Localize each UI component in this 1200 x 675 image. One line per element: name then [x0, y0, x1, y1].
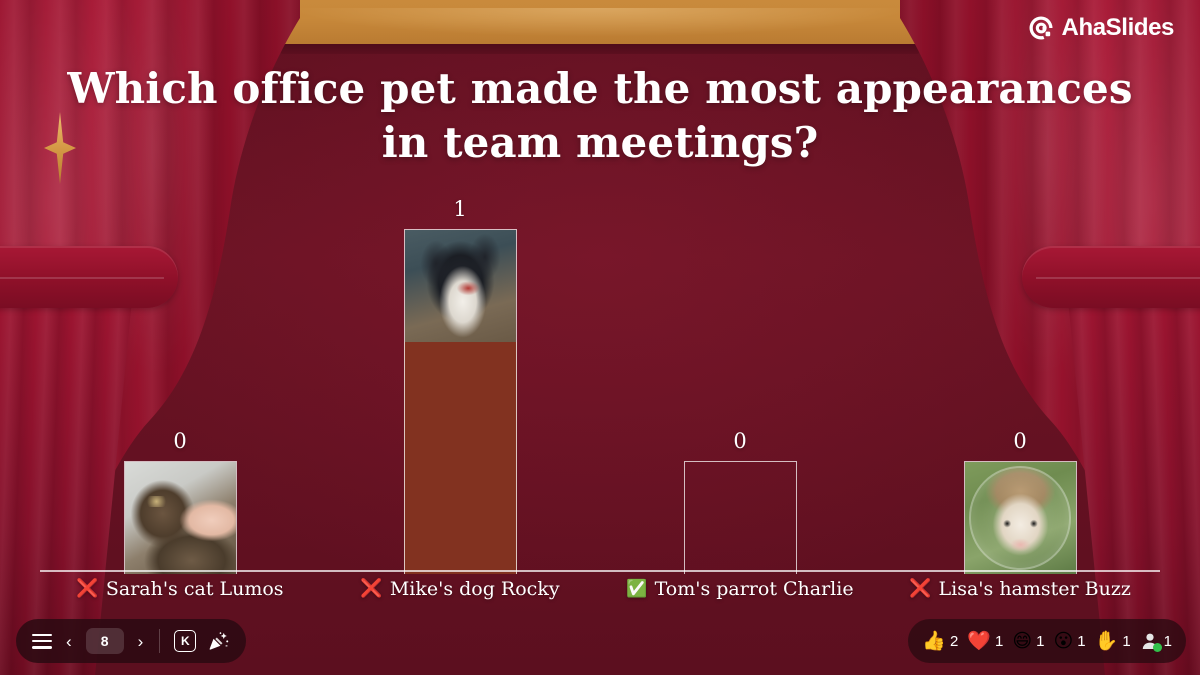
chart-column-hamster: 0 — [880, 196, 1160, 574]
answer-option-parrot[interactable]: ✅ Tom's parrot Charlie — [600, 578, 880, 600]
answer-option-cat[interactable]: ❌ Sarah's cat Lumos — [40, 578, 320, 600]
stage-valance — [258, 0, 942, 46]
confetti-button[interactable] — [208, 630, 230, 652]
cross-icon: ❌ — [909, 580, 931, 598]
hamburger-menu-icon — [32, 634, 52, 649]
chart-axis-line — [40, 570, 1160, 572]
thumbs-up-icon: 👍 — [922, 632, 946, 651]
chart-column-dog: 1 — [320, 196, 600, 574]
answer-option-dog[interactable]: ❌ Mike's dog Rocky — [320, 578, 600, 600]
cat-photo — [124, 461, 237, 574]
participants-indicator[interactable]: 1 — [1140, 631, 1172, 651]
cross-icon: ❌ — [360, 580, 382, 598]
reaction-surprised[interactable]: 😮 1 — [1053, 632, 1085, 651]
presentation-slide: AhaSlides Which office pet made the most… — [0, 0, 1200, 675]
online-status-dot — [1153, 643, 1162, 652]
bar-group: 0 — [124, 431, 237, 574]
ahaslides-logo: AhaSlides — [1028, 14, 1174, 42]
answer-option-label: Tom's parrot Charlie — [655, 578, 854, 600]
prev-slide-button[interactable]: ‹ — [64, 633, 74, 650]
bar-value-label: 0 — [173, 431, 186, 452]
menu-button[interactable] — [32, 634, 52, 649]
slide-toolbar: ‹ 8 › K — [16, 619, 246, 663]
bar-value-label: 1 — [453, 199, 466, 220]
reaction-count: 1 — [1077, 633, 1085, 650]
reaction-laugh[interactable]: 😄 1 — [1012, 632, 1044, 651]
participant-count: 1 — [1164, 633, 1172, 650]
bar-value-label: 0 — [733, 431, 746, 452]
reaction-raise-hand[interactable]: ✋ 1 — [1095, 632, 1131, 651]
person-online-icon — [1140, 631, 1160, 651]
party-popper-icon — [208, 630, 230, 652]
toolbar-divider — [159, 629, 160, 653]
raise-hand-icon: ✋ — [1095, 632, 1119, 651]
reaction-thumbs-up[interactable]: 👍 2 — [922, 632, 958, 651]
surprised-icon: 😮 — [1053, 632, 1073, 651]
bar-group: 0 — [964, 431, 1077, 574]
chart-column-cat: 0 — [40, 196, 320, 574]
bar-group: 0 — [684, 431, 797, 574]
reaction-count: 2 — [950, 633, 958, 650]
stage-valance-shadow — [262, 44, 938, 54]
heart-icon: ❤️ — [967, 632, 991, 651]
answer-option-label: Mike's dog Rocky — [390, 578, 560, 600]
answer-option-label: Lisa's hamster Buzz — [939, 578, 1131, 600]
answer-options-row: ❌ Sarah's cat Lumos ❌ Mike's dog Rocky ✅… — [40, 578, 1160, 600]
reaction-count: 1 — [995, 633, 1003, 650]
reaction-heart[interactable]: ❤️ 1 — [967, 632, 1003, 651]
bar-group: 1 — [404, 199, 517, 574]
laugh-icon: 😄 — [1012, 632, 1032, 651]
poll-results-chart: 0 1 0 — [40, 196, 1160, 574]
check-icon: ✅ — [626, 581, 647, 598]
slide-number[interactable]: 8 — [86, 628, 124, 654]
cross-icon: ❌ — [76, 580, 98, 598]
answer-option-label: Sarah's cat Lumos — [106, 578, 284, 600]
reaction-count: 1 — [1122, 633, 1130, 650]
reactions-bar: 👍 2 ❤️ 1 😄 1 😮 1 ✋ 1 1 — [908, 619, 1186, 663]
hamster-photo — [964, 461, 1077, 574]
ahaslides-logo-icon — [1028, 15, 1054, 41]
parrot-photo — [684, 461, 797, 574]
bar-fill — [404, 342, 517, 574]
ahaslides-logo-text: AhaSlides — [1062, 14, 1174, 42]
dog-photo — [404, 229, 517, 342]
keyboard-shortcut-button[interactable]: K — [174, 630, 196, 652]
reaction-count: 1 — [1036, 633, 1044, 650]
page-title: Which office pet made the most appearanc… — [40, 62, 1160, 170]
answer-option-hamster[interactable]: ❌ Lisa's hamster Buzz — [880, 578, 1160, 600]
bar-value-label: 0 — [1013, 431, 1026, 452]
chart-column-parrot: 0 — [600, 196, 880, 574]
next-slide-button[interactable]: › — [136, 633, 146, 650]
